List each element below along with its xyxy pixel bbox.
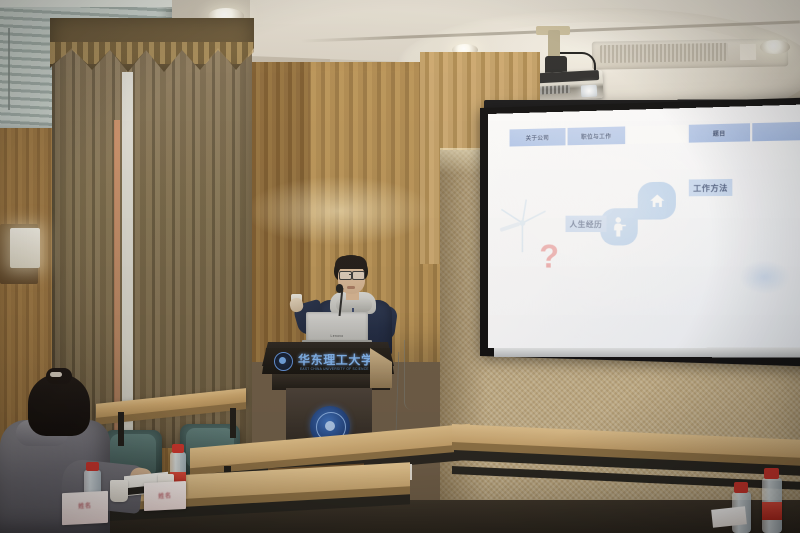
water-bottle-cap [764, 468, 779, 479]
water-bottle-cap [734, 482, 748, 493]
paper-cup [110, 480, 128, 502]
wall-cable-secondary [404, 340, 415, 410]
eyeglasses-right-lens-icon [352, 271, 365, 280]
slide-tab-4: 题目 [689, 123, 750, 142]
wall-sconce-lamp [10, 228, 40, 268]
blind-cord [8, 28, 10, 110]
speaker-mouth [347, 286, 355, 289]
napkin [711, 506, 747, 527]
name-card: 姓名 [144, 481, 186, 511]
eyeglasses-bridge [349, 274, 353, 275]
microphone-icon [336, 284, 343, 293]
podium-emblem-core [325, 421, 335, 431]
table-leg [118, 412, 124, 446]
slide-tab-bar: 关于公司 职位与工作 题目 [510, 122, 800, 147]
name-card-text: 姓名 [144, 490, 186, 501]
blind-headrail [0, 0, 172, 7]
university-logo-core [279, 357, 286, 364]
speaker-hair-fringe [335, 256, 367, 269]
wall-uplight-glow [244, 176, 434, 246]
lecture-hall-photo: 关于公司 职位与工作 题目 [0, 0, 800, 533]
water-bottle-cap [172, 444, 184, 453]
table-leg [230, 408, 236, 438]
ac-grille-icon [600, 43, 728, 63]
name-card: 姓名 [62, 491, 108, 525]
name-card-text: 姓名 [62, 500, 108, 511]
presentation-slide: 关于公司 职位与工作 题目 [488, 104, 800, 358]
water-bottle-cap [86, 462, 99, 471]
slide-question-mark: ? [539, 240, 559, 273]
slide-label-work-method: 工作方法 [689, 179, 733, 196]
laptop-brand-label: Lenovo [324, 334, 350, 339]
ceiling-downlight [760, 40, 790, 54]
slide-body: 人生经历 工作方法 ? [488, 148, 800, 358]
slide-tab-3-active [627, 125, 686, 144]
seated-person-hair-tie [50, 372, 62, 377]
eyeglasses-left-lens-icon [339, 271, 352, 280]
curtain-gap-warm [114, 120, 120, 440]
water-bottle-label [762, 502, 782, 520]
slide-tab-5 [752, 122, 800, 142]
projection-screen-bottom-bar [494, 348, 800, 358]
ac-slot [740, 44, 756, 60]
slide-tab-1: 关于公司 [510, 128, 566, 147]
house-icon [648, 192, 666, 209]
slide-faint-graphic [739, 260, 790, 295]
projection-screen: 关于公司 职位与工作 题目 [488, 104, 800, 358]
slide-tab-2: 职位与工作 [568, 126, 626, 145]
person-icon [611, 216, 628, 237]
projector-lens-icon [581, 85, 598, 98]
slide-label-life-experience: 人生经历 [566, 216, 607, 232]
curtain-gap-light [122, 72, 133, 448]
